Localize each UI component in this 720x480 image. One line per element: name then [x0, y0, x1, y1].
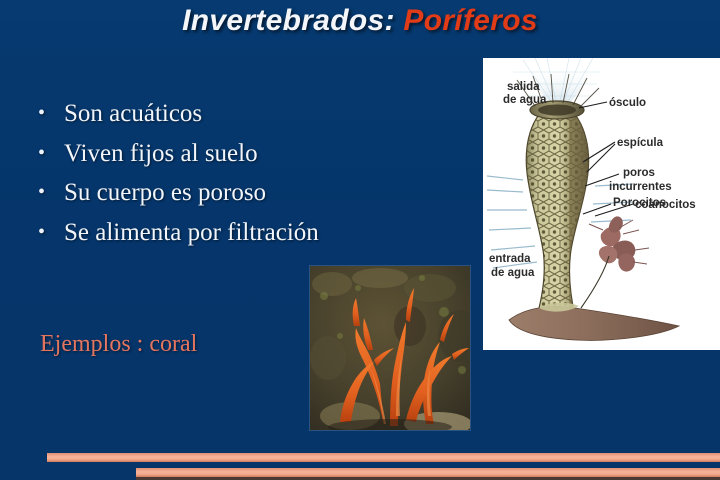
coral-photo-graphic: [310, 266, 470, 430]
title-main-text: Invertebrados:: [182, 4, 395, 37]
bullet-marker-icon: •: [38, 100, 64, 127]
decor-bar-lower: [136, 468, 720, 477]
label-text: poros: [623, 167, 655, 179]
bullet-marker-icon: •: [38, 140, 64, 167]
bullet-text: Son acuáticos: [64, 100, 338, 129]
bullet-marker-icon: •: [38, 219, 64, 246]
label-text: incurrentes: [609, 181, 672, 193]
label-text: de agua: [491, 267, 535, 279]
bullet-text: Su cuerpo es poroso: [64, 179, 338, 208]
bullet-list: • Son acuáticos • Viven fijos al suelo •…: [38, 100, 338, 258]
decor-bar-upper: [47, 453, 720, 462]
list-item: • Son acuáticos: [38, 100, 338, 129]
label-text: espícula: [617, 137, 664, 149]
list-item: • Su cuerpo es poroso: [38, 179, 338, 208]
coral-photo: [310, 266, 470, 430]
list-item: • Viven fijos al suelo: [38, 140, 338, 169]
label-text: de agua: [503, 94, 547, 106]
list-item: • Se alimenta por filtración: [38, 219, 338, 248]
bullet-marker-icon: •: [38, 179, 64, 206]
sponge-diagram-graphic: salida de agua ósculo espícula poros inc…: [483, 58, 720, 350]
slide-canvas: Invertebrados: Poríferos • Son acuáticos…: [0, 0, 720, 480]
label-text: entrada: [489, 253, 531, 265]
sponge-anatomy-diagram: salida de agua ósculo espícula poros inc…: [483, 58, 720, 350]
label-text: salida: [507, 81, 540, 93]
label-text: coanocitos: [635, 199, 696, 211]
title-highlight-text: Poríferos: [395, 4, 538, 37]
bullet-text: Viven fijos al suelo: [64, 140, 338, 169]
bullet-text: Se alimenta por filtración: [64, 219, 338, 248]
page-title: Invertebrados: Poríferos: [0, 4, 720, 38]
example-text: Ejemplos : coral: [40, 331, 197, 358]
label-text: ósculo: [609, 97, 646, 109]
